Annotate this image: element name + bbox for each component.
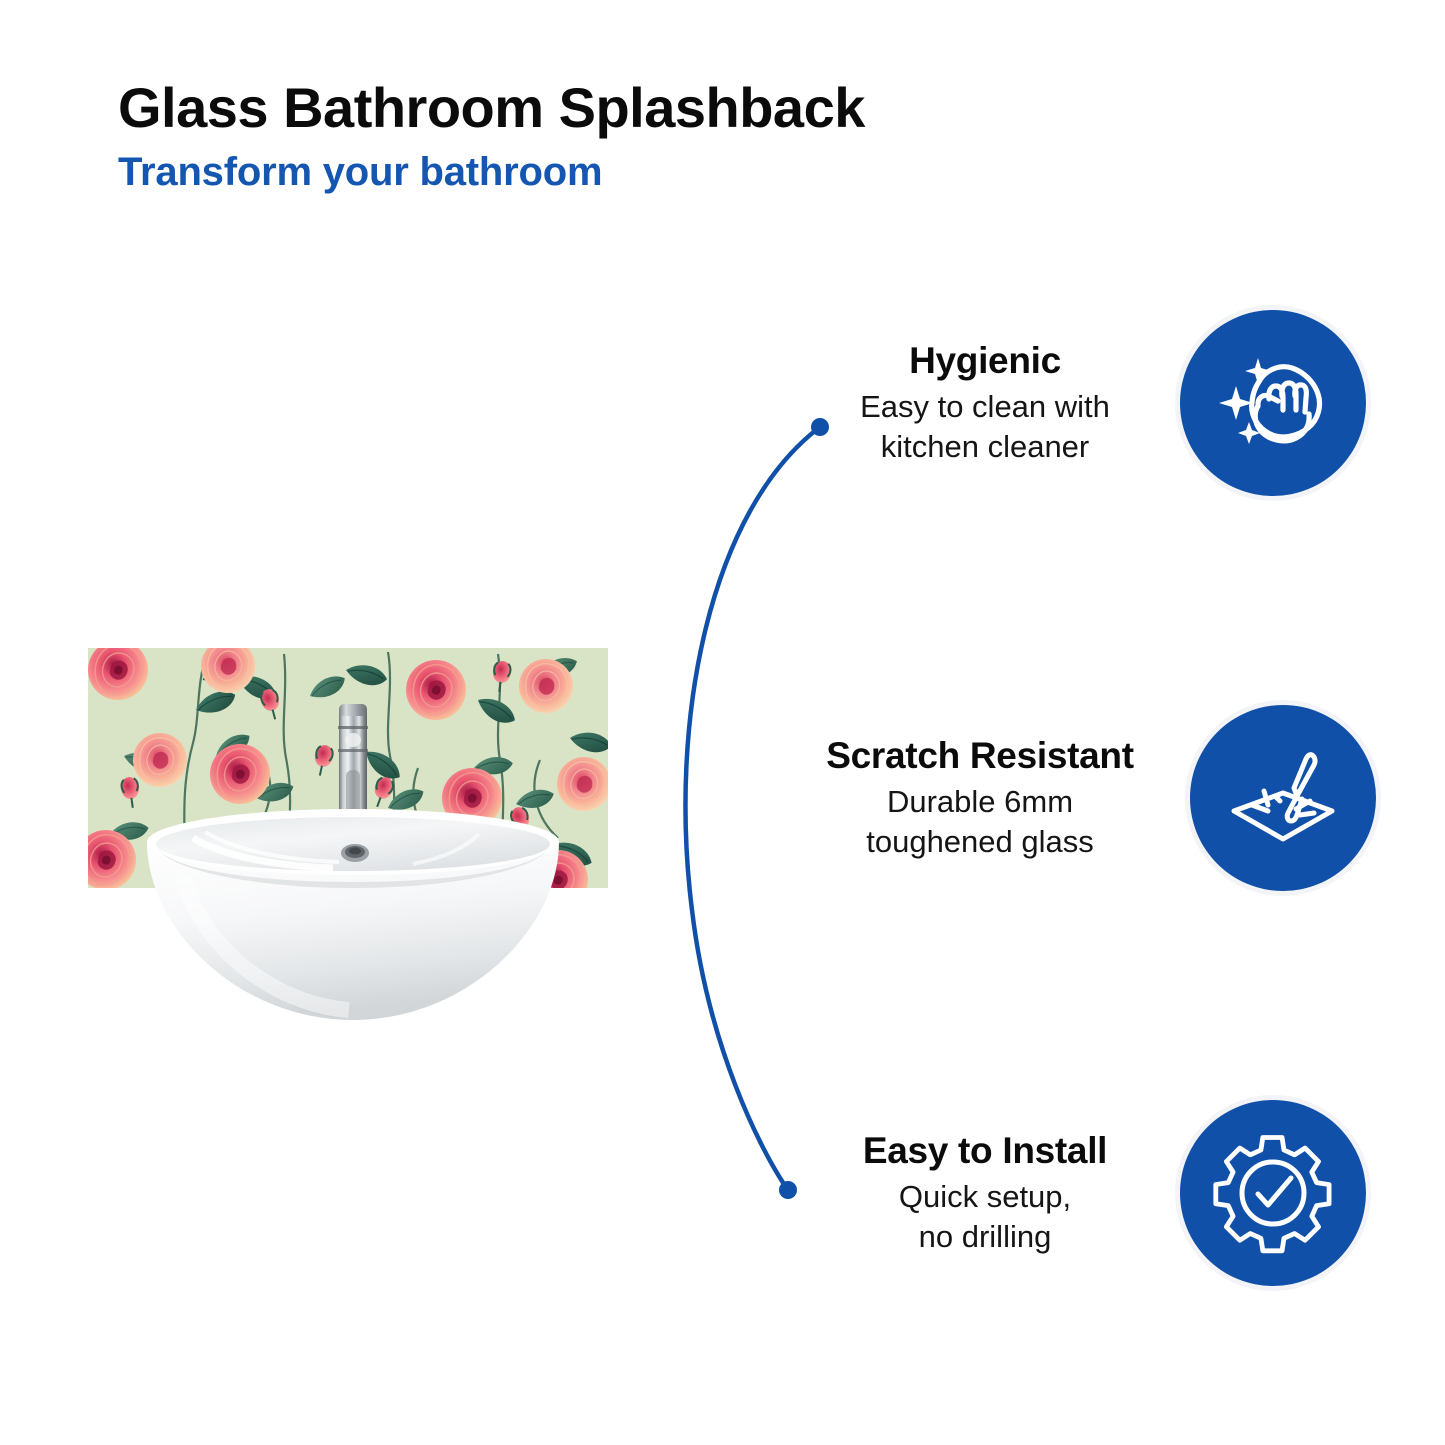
feature-description: Easy to clean with kitchen cleaner xyxy=(820,387,1150,466)
feature-title: Hygienic xyxy=(820,340,1150,381)
feature-hygienic: Hygienic Easy to clean with kitchen clea… xyxy=(820,310,1366,496)
feature-text-block: Hygienic Easy to clean with kitchen clea… xyxy=(820,340,1150,467)
feature-icon-badge xyxy=(1190,705,1376,891)
sparkle-icon xyxy=(1245,358,1271,384)
knife-scratching-surface-icon xyxy=(1224,739,1342,857)
header: Glass Bathroom Splashback Transform your… xyxy=(118,78,865,194)
infographic-page: Glass Bathroom Splashback Transform your… xyxy=(0,0,1445,1445)
feature-description-line2: toughened glass xyxy=(800,822,1160,862)
hand-wiping-cloth-sparkle-icon xyxy=(1214,344,1332,462)
feature-description: Quick setup, no drilling xyxy=(820,1177,1150,1256)
page-title: Glass Bathroom Splashback xyxy=(118,78,865,138)
feature-scratch-resistant: Scratch Resistant Durable 6mm toughened … xyxy=(800,705,1376,891)
feature-description-line1: Easy to clean with xyxy=(820,387,1150,427)
gear-checkmark-icon xyxy=(1211,1131,1335,1255)
vessel-basin xyxy=(143,808,563,1053)
feature-text-block: Easy to Install Quick setup, no drilling xyxy=(820,1130,1150,1257)
feature-description-line2: kitchen cleaner xyxy=(820,427,1150,467)
feature-icon-badge xyxy=(1180,1100,1366,1286)
feature-easy-to-install: Easy to Install Quick setup, no drilling xyxy=(820,1100,1366,1286)
page-subtitle: Transform your bathroom xyxy=(118,150,865,194)
sparkle-icon xyxy=(1219,386,1253,420)
feature-title: Easy to Install xyxy=(820,1130,1150,1171)
feature-description-line2: no drilling xyxy=(820,1217,1150,1257)
feature-title: Scratch Resistant xyxy=(800,735,1160,776)
feature-text-block: Scratch Resistant Durable 6mm toughened … xyxy=(800,735,1160,862)
feature-icon-badge xyxy=(1180,310,1366,496)
feature-description-line1: Durable 6mm xyxy=(800,782,1160,822)
feature-description-line1: Quick setup, xyxy=(820,1177,1150,1217)
connector-dot-bottom xyxy=(779,1181,797,1199)
feature-description: Durable 6mm toughened glass xyxy=(800,782,1160,861)
product-image xyxy=(88,648,608,1048)
